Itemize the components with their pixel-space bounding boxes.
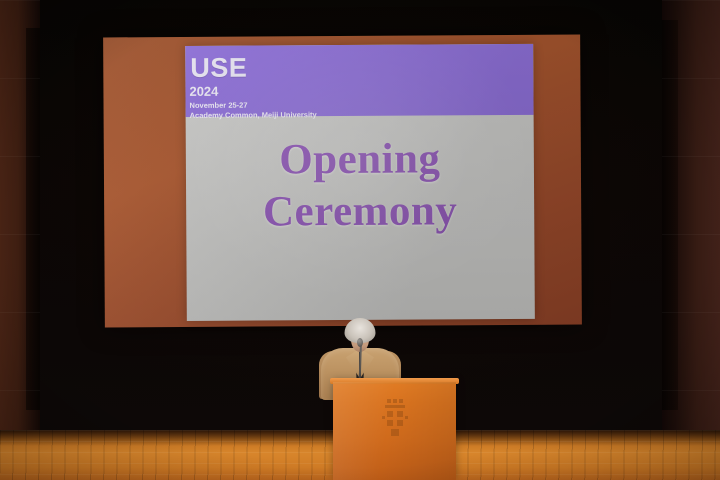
slide-title-line-1: Opening xyxy=(279,133,441,186)
projected-slide: USE 2024 November 25-27 Academy Common, … xyxy=(185,44,535,321)
slide-header-band: USE 2024 November 25-27 Academy Common, … xyxy=(185,44,533,117)
microphone-head-icon xyxy=(357,338,363,347)
side-wall-panel-right xyxy=(662,0,720,438)
slide-body: Opening Ceremony xyxy=(186,115,535,321)
university-crest-icon xyxy=(376,396,414,440)
conference-logo: USE xyxy=(190,53,533,82)
slide-title-line-2: Ceremony xyxy=(263,186,458,240)
side-wall-panel-left xyxy=(0,0,40,438)
podium-top-surface xyxy=(330,378,459,384)
projection-screen-frame: USE 2024 November 25-27 Academy Common, … xyxy=(103,35,582,328)
auditorium-stage-scene: USE 2024 November 25-27 Academy Common, … xyxy=(0,0,720,480)
podium xyxy=(333,382,456,480)
conference-year: 2024 xyxy=(189,83,533,99)
